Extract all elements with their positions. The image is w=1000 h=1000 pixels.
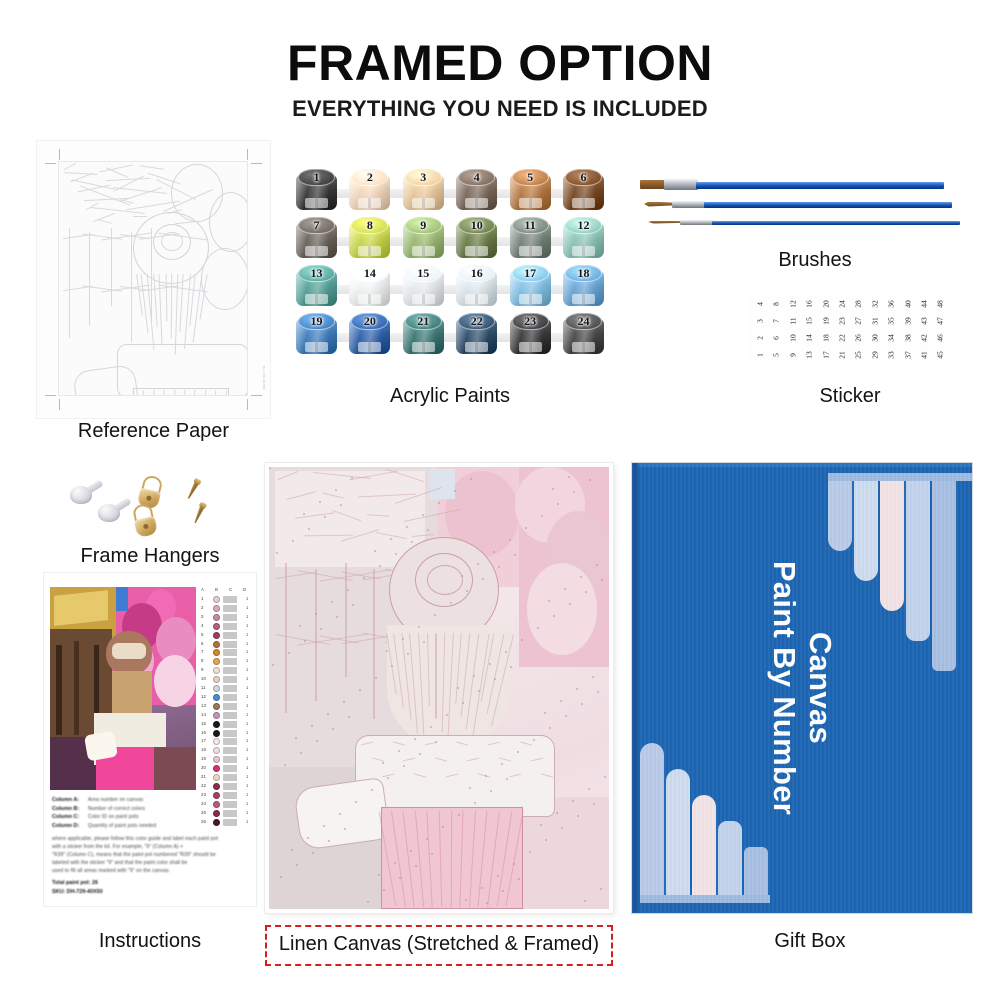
sticker-column: 17181920 bbox=[819, 292, 834, 364]
ref-post bbox=[69, 228, 70, 338]
legend-row-swatch bbox=[213, 649, 220, 656]
legend-row-code bbox=[223, 819, 243, 826]
sticker-number[interactable]: 16 bbox=[801, 297, 819, 312]
canvas-number-dot bbox=[427, 529, 429, 531]
balloon-4 bbox=[527, 563, 597, 655]
canvas-number-dot bbox=[375, 677, 377, 679]
legend-row-swatch bbox=[213, 596, 220, 603]
paint-pot-5[interactable]: 5 bbox=[510, 169, 551, 210]
canvas-number-dot bbox=[597, 691, 599, 693]
canvas-number-dot bbox=[478, 690, 480, 692]
paint-pot-21[interactable]: 21 bbox=[403, 313, 444, 354]
canvas-number-dot bbox=[572, 800, 574, 802]
canvas-number-dot bbox=[288, 652, 290, 654]
paint-pot-24[interactable]: 24 bbox=[563, 313, 604, 354]
thumb-balloon-e bbox=[154, 655, 196, 707]
sticker-number[interactable]: 20 bbox=[817, 297, 835, 312]
canvas-number-dot bbox=[415, 865, 417, 867]
canvas-number-dot bbox=[308, 528, 310, 530]
legend-row-swatch bbox=[213, 747, 220, 754]
canvas-number-dot bbox=[402, 638, 404, 640]
legend-row-number: 6 bbox=[201, 641, 203, 646]
skirt-pleat bbox=[450, 811, 452, 907]
instructions-column-label: Column A: bbox=[52, 797, 79, 803]
paint-pot-15[interactable]: 15 bbox=[403, 265, 444, 306]
sticker-column: 45464748 bbox=[933, 292, 948, 364]
paint-pot-9[interactable]: 9 bbox=[403, 217, 444, 258]
canvas-number-dot bbox=[581, 703, 583, 705]
canvas-number-dot bbox=[556, 812, 558, 814]
canvas-number-dot bbox=[517, 751, 519, 753]
canvas-number-dot bbox=[490, 790, 492, 792]
legend-row: 41 bbox=[199, 622, 251, 631]
legend-row-code bbox=[223, 703, 243, 710]
paint-pot-number: 15 bbox=[403, 266, 444, 281]
sticker-number[interactable]: 18 bbox=[817, 331, 835, 346]
legend-row-code bbox=[223, 685, 243, 692]
legend-header: D bbox=[243, 587, 246, 592]
paint-pot-12[interactable]: 12 bbox=[563, 217, 604, 258]
legend-row-number: 8 bbox=[201, 658, 203, 663]
legend-row-swatch bbox=[213, 765, 220, 772]
legend-row-code bbox=[223, 756, 243, 763]
paint-pot-2[interactable]: 2 bbox=[349, 169, 390, 210]
sticker-number[interactable]: 15 bbox=[801, 314, 819, 329]
paint-pot-number: 23 bbox=[510, 314, 551, 329]
gift-box-left-edge bbox=[632, 463, 638, 913]
sticker-number[interactable]: 34 bbox=[883, 331, 901, 346]
paint-pot-8[interactable]: 8 bbox=[349, 217, 390, 258]
legend-row-number: 10 bbox=[201, 676, 206, 681]
canvas-number-dot bbox=[431, 853, 433, 855]
legend-row-qty: 1 bbox=[246, 596, 248, 601]
canvas-number-dot bbox=[398, 750, 400, 752]
legend-row-code bbox=[223, 783, 243, 790]
instructions-column-label: Column B: bbox=[52, 806, 79, 812]
sticker-number[interactable]: 8 bbox=[768, 297, 786, 312]
legend-row-swatch bbox=[213, 756, 220, 763]
canvas-number-dot bbox=[291, 849, 293, 851]
paint-pot-spout bbox=[412, 342, 435, 352]
paint-pot-number: 4 bbox=[456, 170, 497, 185]
canvas-number-dot bbox=[529, 851, 531, 853]
paint-pot-16[interactable]: 16 bbox=[456, 265, 497, 306]
canvas-number-dot bbox=[552, 488, 554, 490]
ref-skirt-pleat bbox=[184, 390, 186, 396]
brush-ferrule bbox=[680, 220, 714, 225]
canvas-number-dot bbox=[498, 566, 500, 568]
sticker-column: 21222324 bbox=[835, 292, 850, 364]
legend-row-qty: 1 bbox=[246, 703, 248, 708]
legend-row-number: 26 bbox=[201, 819, 206, 824]
paint-pot-number: 16 bbox=[456, 266, 497, 281]
paint-pot-13[interactable]: 13 bbox=[296, 265, 337, 306]
legend-row-number: 13 bbox=[201, 703, 206, 708]
sticker-column: 5678 bbox=[769, 292, 784, 364]
sticker-number[interactable]: 48 bbox=[932, 297, 950, 312]
legend-row-swatch bbox=[213, 632, 220, 639]
instructions-note-line: used to fill all areas marked with "9" o… bbox=[52, 868, 170, 874]
legend-row-qty: 1 bbox=[246, 730, 248, 735]
canvas-number-dot bbox=[347, 589, 349, 591]
canvas-number-dot bbox=[565, 715, 567, 717]
canvas-number-dot bbox=[359, 689, 361, 691]
canvas-number-dot bbox=[541, 515, 543, 517]
canvas-number-dot bbox=[450, 602, 452, 604]
ref-canopy-line bbox=[140, 165, 164, 170]
sticker-number[interactable]: 17 bbox=[817, 348, 835, 363]
canvas-number-dot bbox=[323, 825, 325, 827]
legend-row-qty: 1 bbox=[246, 605, 248, 610]
paint-pot-7[interactable]: 7 bbox=[296, 217, 337, 258]
canvas-number-dot bbox=[514, 554, 516, 556]
sticker-number[interactable]: 38 bbox=[899, 331, 917, 346]
canvas-number-dot bbox=[280, 876, 282, 878]
canvas-number-dot bbox=[544, 712, 546, 714]
caption-sticker: Sticker bbox=[740, 385, 960, 408]
canvas-number-dot bbox=[316, 740, 318, 742]
canvas-number-dot bbox=[352, 604, 354, 606]
paint-pot-spout bbox=[572, 246, 595, 256]
canvas-number-dot bbox=[577, 815, 579, 817]
sticker-number[interactable]: 33 bbox=[883, 348, 901, 363]
canvas-number-dot bbox=[418, 626, 420, 628]
paint-pot-spout bbox=[412, 198, 435, 208]
canvas-number-dot bbox=[423, 641, 425, 643]
legend-row: 111 bbox=[199, 684, 251, 693]
sticker-number[interactable]: 19 bbox=[817, 314, 835, 329]
legend-row-swatch bbox=[213, 658, 220, 665]
paint-pot-11[interactable]: 11 bbox=[510, 217, 551, 258]
legend-row-swatch bbox=[213, 801, 220, 808]
gift-box-title-line2: Paint By Number bbox=[766, 561, 802, 815]
canvas-number-dot bbox=[462, 702, 464, 704]
carousel-post bbox=[345, 563, 347, 677]
brush-handle bbox=[704, 202, 952, 208]
wall-anchor-pin bbox=[86, 479, 103, 493]
sticker-number[interactable]: 39 bbox=[899, 314, 917, 329]
ref-canopy-line bbox=[106, 178, 150, 181]
canvas-number-dot bbox=[505, 651, 507, 653]
legend-row-number: 24 bbox=[201, 801, 206, 806]
sticker-column: 33343536 bbox=[884, 292, 899, 364]
carousel-post bbox=[285, 563, 287, 713]
legend-row: 161 bbox=[199, 729, 251, 738]
sticker-column: 29303132 bbox=[868, 292, 883, 364]
canvas-number-dot bbox=[470, 478, 472, 480]
screw[interactable] bbox=[192, 502, 207, 525]
paint-pot-spout bbox=[519, 342, 542, 352]
canvas-number-dot bbox=[604, 776, 606, 778]
paint-pot-spout bbox=[572, 198, 595, 208]
legend-row: 251 bbox=[199, 809, 251, 818]
legend-row-swatch bbox=[213, 685, 220, 692]
sticker-number[interactable]: 26 bbox=[850, 331, 868, 346]
canvas-number-dot bbox=[454, 490, 456, 492]
legend-row-code bbox=[223, 658, 243, 665]
canvas-number-dot bbox=[584, 900, 586, 902]
legend-row-code bbox=[223, 596, 243, 603]
legend-row: 191 bbox=[199, 755, 251, 764]
canvas-number-dot bbox=[573, 491, 575, 493]
legend-row: 121 bbox=[199, 693, 251, 702]
legend-row: 11 bbox=[199, 595, 251, 604]
paint-pot-23[interactable]: 23 bbox=[510, 313, 551, 354]
legend-row-swatch bbox=[213, 783, 220, 790]
canvas-number-dot bbox=[371, 789, 373, 791]
canvas-number-dot bbox=[407, 653, 409, 655]
canvas-number-dot bbox=[592, 676, 594, 678]
paint-pot-number: 21 bbox=[403, 314, 444, 329]
paint-pot-17[interactable]: 17 bbox=[510, 265, 551, 306]
paint-pot-6[interactable]: 6 bbox=[563, 169, 604, 210]
paint-pot-number: 1 bbox=[296, 170, 337, 185]
canvas-number-dot bbox=[374, 550, 376, 552]
screw[interactable] bbox=[185, 478, 202, 501]
canvas-number-dot bbox=[394, 862, 396, 864]
canvas-number-dot bbox=[344, 828, 346, 830]
canvas-number-dot bbox=[510, 666, 512, 668]
linen-canvas-lineart bbox=[269, 467, 609, 909]
gift-box-stripe-top bbox=[854, 481, 878, 581]
canvas-number-dot bbox=[588, 788, 590, 790]
instructions-note-line: labeled with the sticker "9" and that th… bbox=[52, 860, 187, 866]
canvas-number-dot bbox=[493, 551, 495, 553]
sticker-number[interactable]: 27 bbox=[850, 314, 868, 329]
ref-hat-inner bbox=[161, 232, 183, 251]
ref-sleeve bbox=[72, 364, 140, 396]
canvas-number-dot bbox=[383, 889, 385, 891]
legend-row-swatch bbox=[213, 721, 220, 728]
sticker-number[interactable]: 47 bbox=[932, 314, 950, 329]
paint-pot-spout bbox=[519, 246, 542, 256]
instructions-column-desc: Area number on canvas bbox=[88, 797, 143, 803]
ref-canopy-line bbox=[98, 219, 112, 224]
paint-pot-spout bbox=[465, 246, 488, 256]
ref-hair bbox=[171, 274, 172, 338]
legend-row-swatch bbox=[213, 738, 220, 745]
legend-row-number: 5 bbox=[201, 632, 203, 637]
legend-row-number: 1 bbox=[201, 596, 203, 601]
reference-paper-side-code: DH-729-40X50 bbox=[262, 366, 266, 390]
sticker-number[interactable]: 7 bbox=[768, 314, 786, 329]
canvas-number-dot bbox=[501, 763, 503, 765]
paint-pot-spout bbox=[358, 342, 381, 352]
legend-row-number: 15 bbox=[201, 721, 206, 726]
legend-row-swatch bbox=[213, 712, 220, 719]
legend-row-code bbox=[223, 694, 243, 701]
paint-pot-spout bbox=[465, 342, 488, 352]
legend-row-swatch bbox=[213, 667, 220, 674]
canvas-number-dot bbox=[466, 590, 468, 592]
sticker-number[interactable]: 25 bbox=[850, 348, 868, 363]
ref-post bbox=[111, 228, 112, 306]
thumb-floor-right bbox=[154, 747, 196, 790]
paint-pot-spout bbox=[519, 198, 542, 208]
instructions-sheet: ABCD112131415161718191101111121131141151… bbox=[44, 573, 256, 906]
instructions-total-paint-pot: Total paint pot: 26 bbox=[52, 880, 98, 886]
paint-pot-number: 22 bbox=[456, 314, 497, 329]
legend-row-qty: 1 bbox=[246, 738, 248, 743]
paint-pot-number: 9 bbox=[403, 218, 444, 233]
canvas-number-dot bbox=[300, 752, 302, 754]
paint-pot-number: 13 bbox=[296, 266, 337, 281]
legend-row-qty: 1 bbox=[246, 614, 248, 619]
canvas-number-dot bbox=[411, 541, 413, 543]
legend-row: 221 bbox=[199, 782, 251, 791]
legend-row-code bbox=[223, 667, 243, 674]
canvas-number-dot bbox=[296, 864, 298, 866]
canvas-number-dot bbox=[299, 625, 301, 627]
legend-row-number: 3 bbox=[201, 614, 203, 619]
paint-pot-18[interactable]: 18 bbox=[563, 265, 604, 306]
legend-row-qty: 1 bbox=[246, 623, 248, 628]
legend-row-code bbox=[223, 641, 243, 648]
gift-box-stripe-bottom-bar bbox=[640, 895, 770, 903]
legend-row: 21 bbox=[199, 604, 251, 613]
brush-handle bbox=[696, 182, 944, 189]
canvas-number-dot bbox=[477, 563, 479, 565]
sticker-number[interactable]: 35 bbox=[883, 314, 901, 329]
canvas-number-dot bbox=[403, 765, 405, 767]
thumb-carousel-canopy bbox=[54, 590, 108, 626]
legend-row: 141 bbox=[199, 711, 251, 720]
canvas-number-dot bbox=[518, 878, 520, 880]
canvas-number-dot bbox=[395, 553, 397, 555]
instructions-color-legend: ABCD112131415161718191101111121131141151… bbox=[199, 586, 251, 828]
legend-row-swatch bbox=[213, 614, 220, 621]
caption-instructions: Instructions bbox=[40, 930, 260, 953]
canvas-number-dot bbox=[509, 539, 511, 541]
legend-row-code bbox=[223, 747, 243, 754]
canvas-number-dot bbox=[382, 762, 384, 764]
paint-pot-spout bbox=[358, 294, 381, 304]
legend-row-qty: 1 bbox=[246, 658, 248, 663]
canvas-number-dot bbox=[545, 839, 547, 841]
sticker-column: 13141516 bbox=[802, 292, 817, 364]
legend-row-code bbox=[223, 632, 243, 639]
canvas-number-dot bbox=[320, 628, 322, 630]
canvas-number-dot bbox=[355, 801, 357, 803]
sticker-number[interactable]: 14 bbox=[801, 331, 819, 346]
legend-row: 51 bbox=[199, 631, 251, 640]
sticker-number[interactable]: 5 bbox=[768, 348, 786, 363]
paint-pot-22[interactable]: 22 bbox=[456, 313, 497, 354]
legend-row-qty: 1 bbox=[246, 783, 248, 788]
canvas-number-dot bbox=[343, 701, 345, 703]
canvas-number-dot bbox=[339, 813, 341, 815]
legend-row: 211 bbox=[199, 773, 251, 782]
caption-gift-box: Gift Box bbox=[700, 930, 920, 953]
canvas-number-dot bbox=[461, 575, 463, 577]
canvas-number-dot bbox=[561, 827, 563, 829]
paint-pot-number: 7 bbox=[296, 218, 337, 233]
caption-brushes: Brushes bbox=[700, 249, 930, 272]
paint-pot-spout bbox=[305, 246, 328, 256]
paint-pot-number: 12 bbox=[563, 218, 604, 233]
canvas-number-dot bbox=[387, 777, 389, 779]
legend-row-code bbox=[223, 801, 243, 808]
legend-row-number: 16 bbox=[201, 730, 206, 735]
canvas-number-dot bbox=[434, 614, 436, 616]
canvas-number-dot bbox=[585, 591, 587, 593]
legend-row-swatch bbox=[213, 605, 220, 612]
brush-hair bbox=[640, 180, 666, 189]
sticker-number[interactable]: 13 bbox=[801, 348, 819, 363]
sticker-number[interactable]: 36 bbox=[883, 297, 901, 312]
sticker-number[interactable]: 40 bbox=[899, 297, 917, 312]
sticker-number[interactable]: 45 bbox=[932, 348, 950, 363]
legend-row: 61 bbox=[199, 640, 251, 649]
gift-box-stripe-top bbox=[906, 481, 930, 641]
legend-row-number: 2 bbox=[201, 605, 203, 610]
canvas-number-dot bbox=[481, 887, 483, 889]
paint-pot-number: 24 bbox=[563, 314, 604, 329]
legend-row-qty: 1 bbox=[246, 632, 248, 637]
caption-frame-hangers: Frame Hangers bbox=[40, 545, 260, 568]
legend-row-qty: 1 bbox=[246, 801, 248, 806]
sticker-number[interactable]: 6 bbox=[768, 331, 786, 346]
sticker-number[interactable]: 37 bbox=[899, 348, 917, 363]
canvas-number-dot bbox=[446, 714, 448, 716]
ref-canopy-line bbox=[133, 216, 147, 217]
canvas-number-dot bbox=[469, 787, 471, 789]
paint-pot-20[interactable]: 20 bbox=[349, 313, 390, 354]
legend-header: C bbox=[229, 587, 232, 592]
canvas-number-dot bbox=[331, 601, 333, 603]
legend-row-qty: 1 bbox=[246, 810, 248, 815]
paint-pot-14[interactable]: 14 bbox=[349, 265, 390, 306]
canvas-number-dot bbox=[426, 838, 428, 840]
legend-row: 231 bbox=[199, 791, 251, 800]
ref-balloon-3 bbox=[201, 248, 248, 310]
instructions-column-label: Column D: bbox=[52, 823, 79, 829]
canvas-number-dot bbox=[351, 477, 353, 479]
legend-row-number: 12 bbox=[201, 694, 206, 699]
canvas-number-dot bbox=[336, 616, 338, 618]
paint-pot-number: 8 bbox=[349, 218, 390, 233]
canvas-number-dot bbox=[410, 850, 412, 852]
paint-pot-3[interactable]: 3 bbox=[403, 169, 444, 210]
canvas-number-dot bbox=[465, 899, 467, 901]
paint-pot-number: 18 bbox=[563, 266, 604, 281]
paint-pot-number: 19 bbox=[296, 314, 337, 329]
legend-row-number: 19 bbox=[201, 756, 206, 761]
paint-pot-10[interactable]: 10 bbox=[456, 217, 497, 258]
legend-row-code bbox=[223, 721, 243, 728]
caption-acrylic-paints: Acrylic Paints bbox=[300, 385, 600, 408]
legend-row-number: 25 bbox=[201, 810, 206, 815]
canvas-number-dot bbox=[391, 665, 393, 667]
sticker-number[interactable]: 28 bbox=[850, 297, 868, 312]
thumb-post-2 bbox=[74, 641, 79, 735]
canvas-number-dot bbox=[537, 627, 539, 629]
sticker-number[interactable]: 46 bbox=[932, 331, 950, 346]
legend-row-code bbox=[223, 649, 243, 656]
legend-row-qty: 1 bbox=[246, 649, 248, 654]
canvas-number-dot bbox=[419, 753, 421, 755]
canvas-number-dot bbox=[348, 716, 350, 718]
canvas-number-dot bbox=[548, 600, 550, 602]
caption-linen-canvas: Linen Canvas (Stretched & Framed) bbox=[265, 925, 613, 966]
paint-pot-number: 20 bbox=[349, 314, 390, 329]
paint-pot-number: 14 bbox=[349, 266, 390, 281]
paint-pot-1[interactable]: 1 bbox=[296, 169, 337, 210]
paint-pot-row: 131415161718 bbox=[295, 264, 605, 308]
paint-pot-4[interactable]: 4 bbox=[456, 169, 497, 210]
gift-box-stripe-top bbox=[880, 481, 904, 611]
paint-pot-19[interactable]: 19 bbox=[296, 313, 337, 354]
